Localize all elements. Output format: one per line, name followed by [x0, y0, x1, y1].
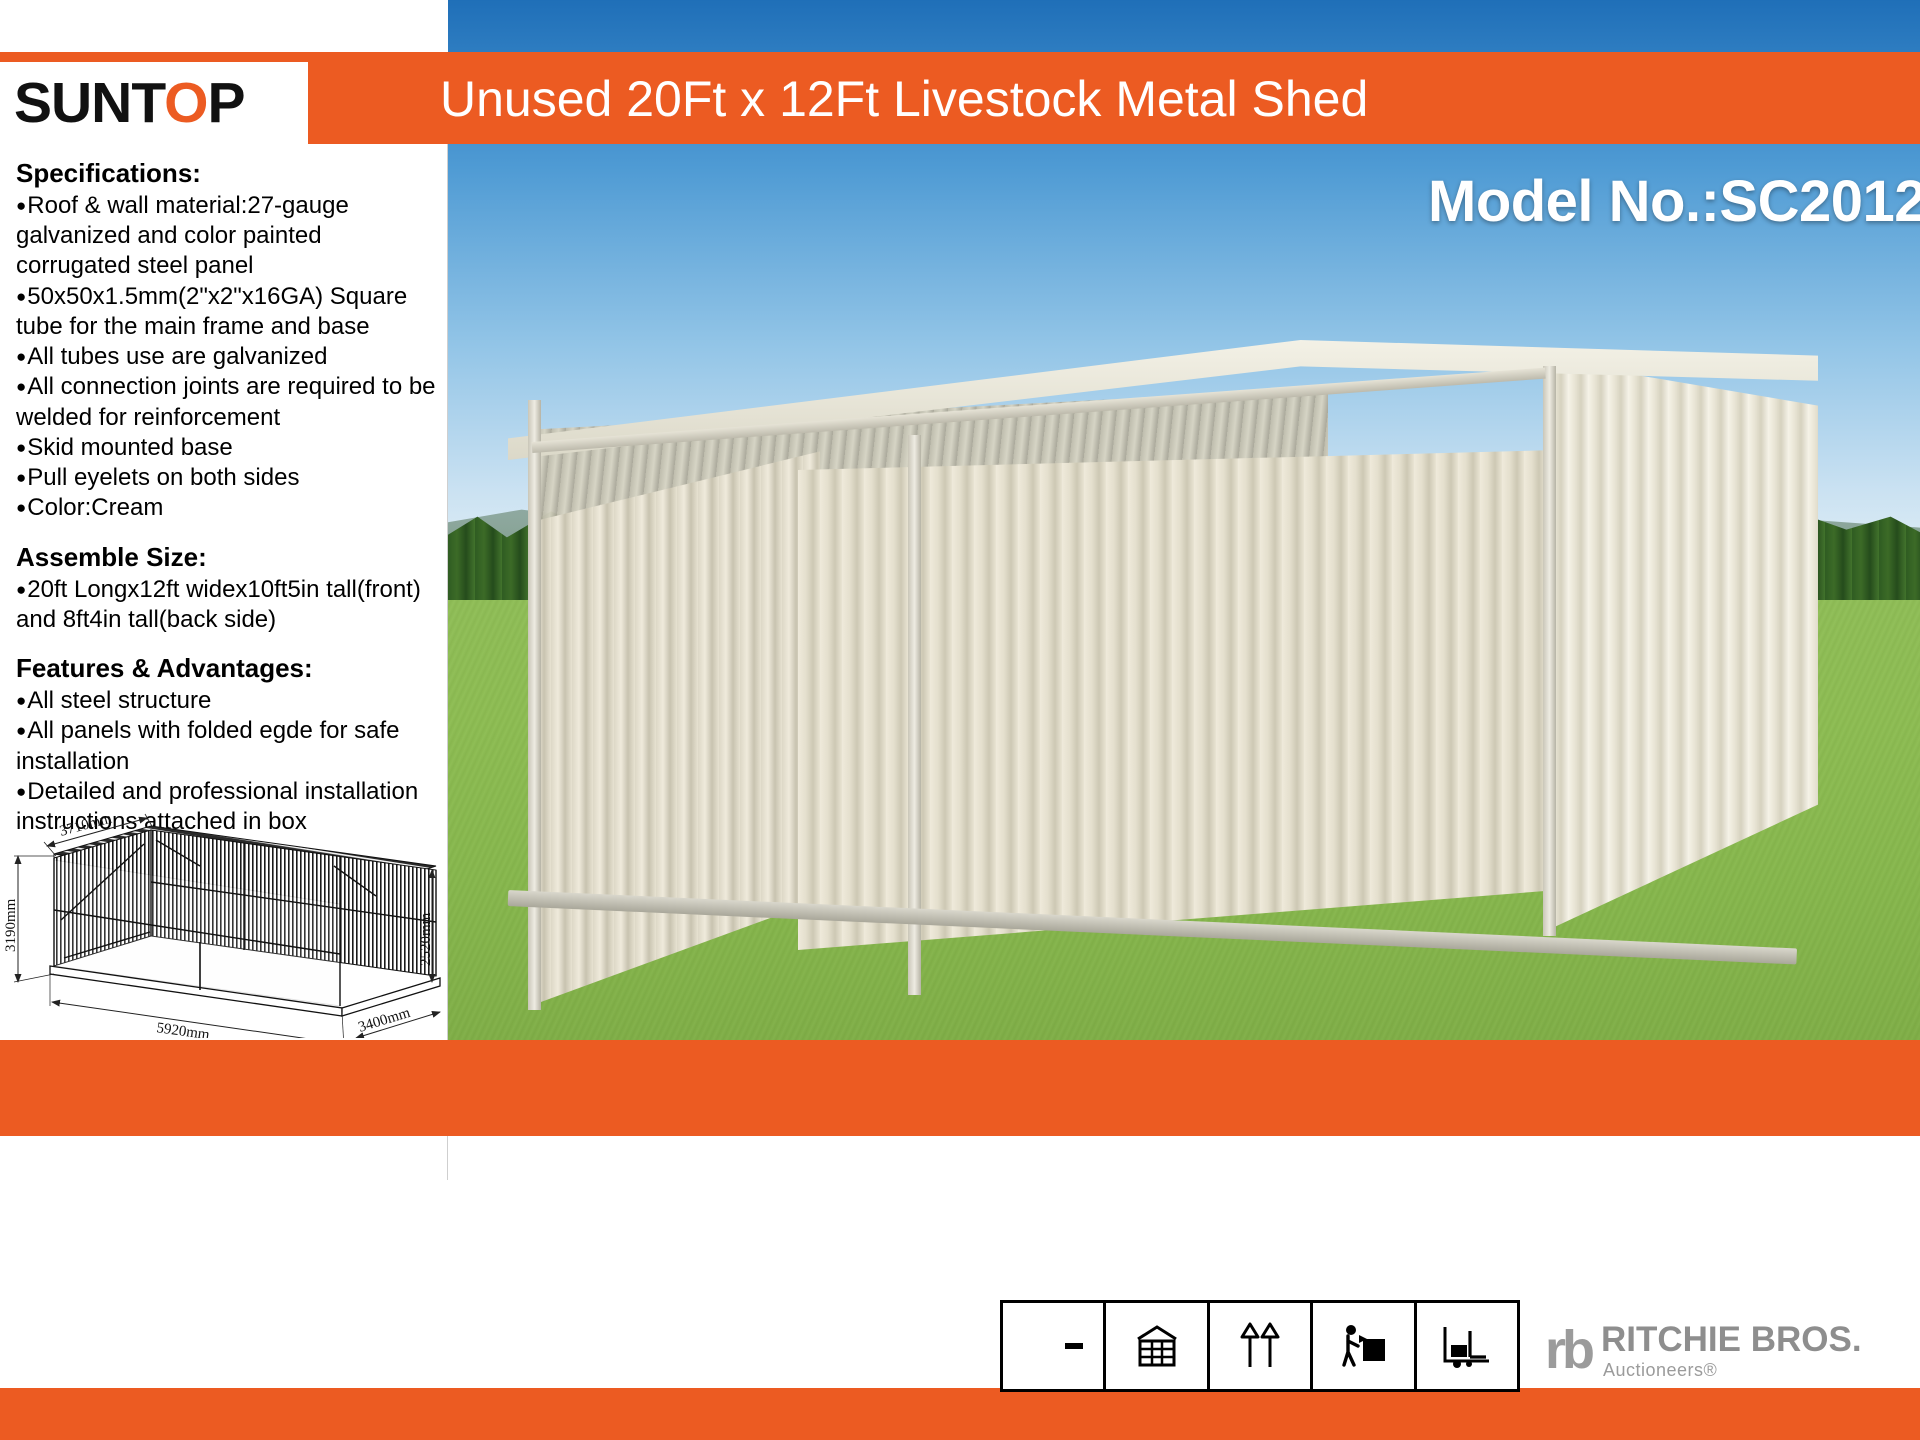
handle-with-care-icon — [1313, 1303, 1416, 1389]
shed-right-wall — [1548, 360, 1818, 930]
ritchie-bros-logo: rb RITCHIE BROS. Auctioneers® — [1545, 1310, 1915, 1390]
rb-wordmark: RITCHIE BROS. Auctioneers® — [1601, 1322, 1862, 1379]
handling-icons-row — [1000, 1300, 1520, 1392]
model-number-label: Model No.:SC2012 — [1428, 168, 1920, 235]
specifications-heading: Specifications: — [16, 158, 441, 189]
ce-mark-icon — [1003, 1303, 1106, 1389]
list-item: All panels with folded egde for safe ins… — [16, 716, 441, 776]
metal-shed-render — [508, 330, 1868, 970]
suntop-logo: SUNTOP — [0, 62, 308, 144]
logo-prefix: SUNT — [14, 71, 164, 135]
list-item: All connection joints are required to be… — [16, 372, 441, 432]
features-heading: Features & Advantages: — [16, 653, 441, 684]
dimension-height-back: 2520mm — [418, 912, 434, 966]
rb-monogram: rb — [1545, 1323, 1591, 1377]
suntop-logo-text: SUNTOP — [14, 75, 245, 132]
rb-company-name: RITCHIE BROS. — [1601, 1322, 1862, 1357]
logo-accent-letter: O — [164, 71, 207, 135]
shed-post-front-left — [528, 400, 541, 1010]
product-photo: Model No.:SC2012 — [448, 0, 1920, 1180]
rb-tagline: Auctioneers® — [1603, 1361, 1862, 1379]
technical-drawing: 3710mm 3190mm 2520mm 5920mm 3400mm — [4, 770, 448, 1038]
poster-page: Model No.:SC2012 SUNTOP Unused 20Ft x 12… — [0, 0, 1920, 1440]
list-item: Roof & wall material:27-gauge galvanized… — [16, 191, 441, 282]
specifications-list: Roof & wall material:27-gauge galvanized… — [16, 191, 441, 524]
logo-suffix: P — [207, 71, 244, 135]
footer-orange-band-bottom — [0, 1388, 1920, 1440]
forklift-icon — [1417, 1303, 1517, 1389]
dimension-length: 5920mm — [155, 1020, 210, 1038]
dimension-height-front: 3190mm — [4, 898, 19, 952]
list-item: Pull eyelets on both sides — [16, 463, 441, 493]
list-item: All tubes use are galvanized — [16, 342, 441, 372]
page-title: Unused 20Ft x 12Ft Livestock Metal Shed — [440, 54, 1870, 144]
assemble-size-list: 20ft Longx12ft widex10ft5in tall(front) … — [16, 575, 441, 635]
shed-post-right — [1543, 366, 1556, 936]
list-item: 50x50x1.5mm(2"x2"x16GA) Square tube for … — [16, 282, 441, 342]
list-item: Skid mounted base — [16, 433, 441, 463]
fragile-crate-icon — [1106, 1303, 1209, 1389]
list-item: 20ft Longx12ft widex10ft5in tall(front) … — [16, 575, 441, 635]
this-side-up-icon — [1210, 1303, 1313, 1389]
assemble-size-heading: Assemble Size: — [16, 542, 441, 573]
footer-orange-band-top — [0, 1040, 1920, 1136]
list-item: Color:Cream — [16, 493, 441, 523]
list-item: All steel structure — [16, 686, 441, 716]
